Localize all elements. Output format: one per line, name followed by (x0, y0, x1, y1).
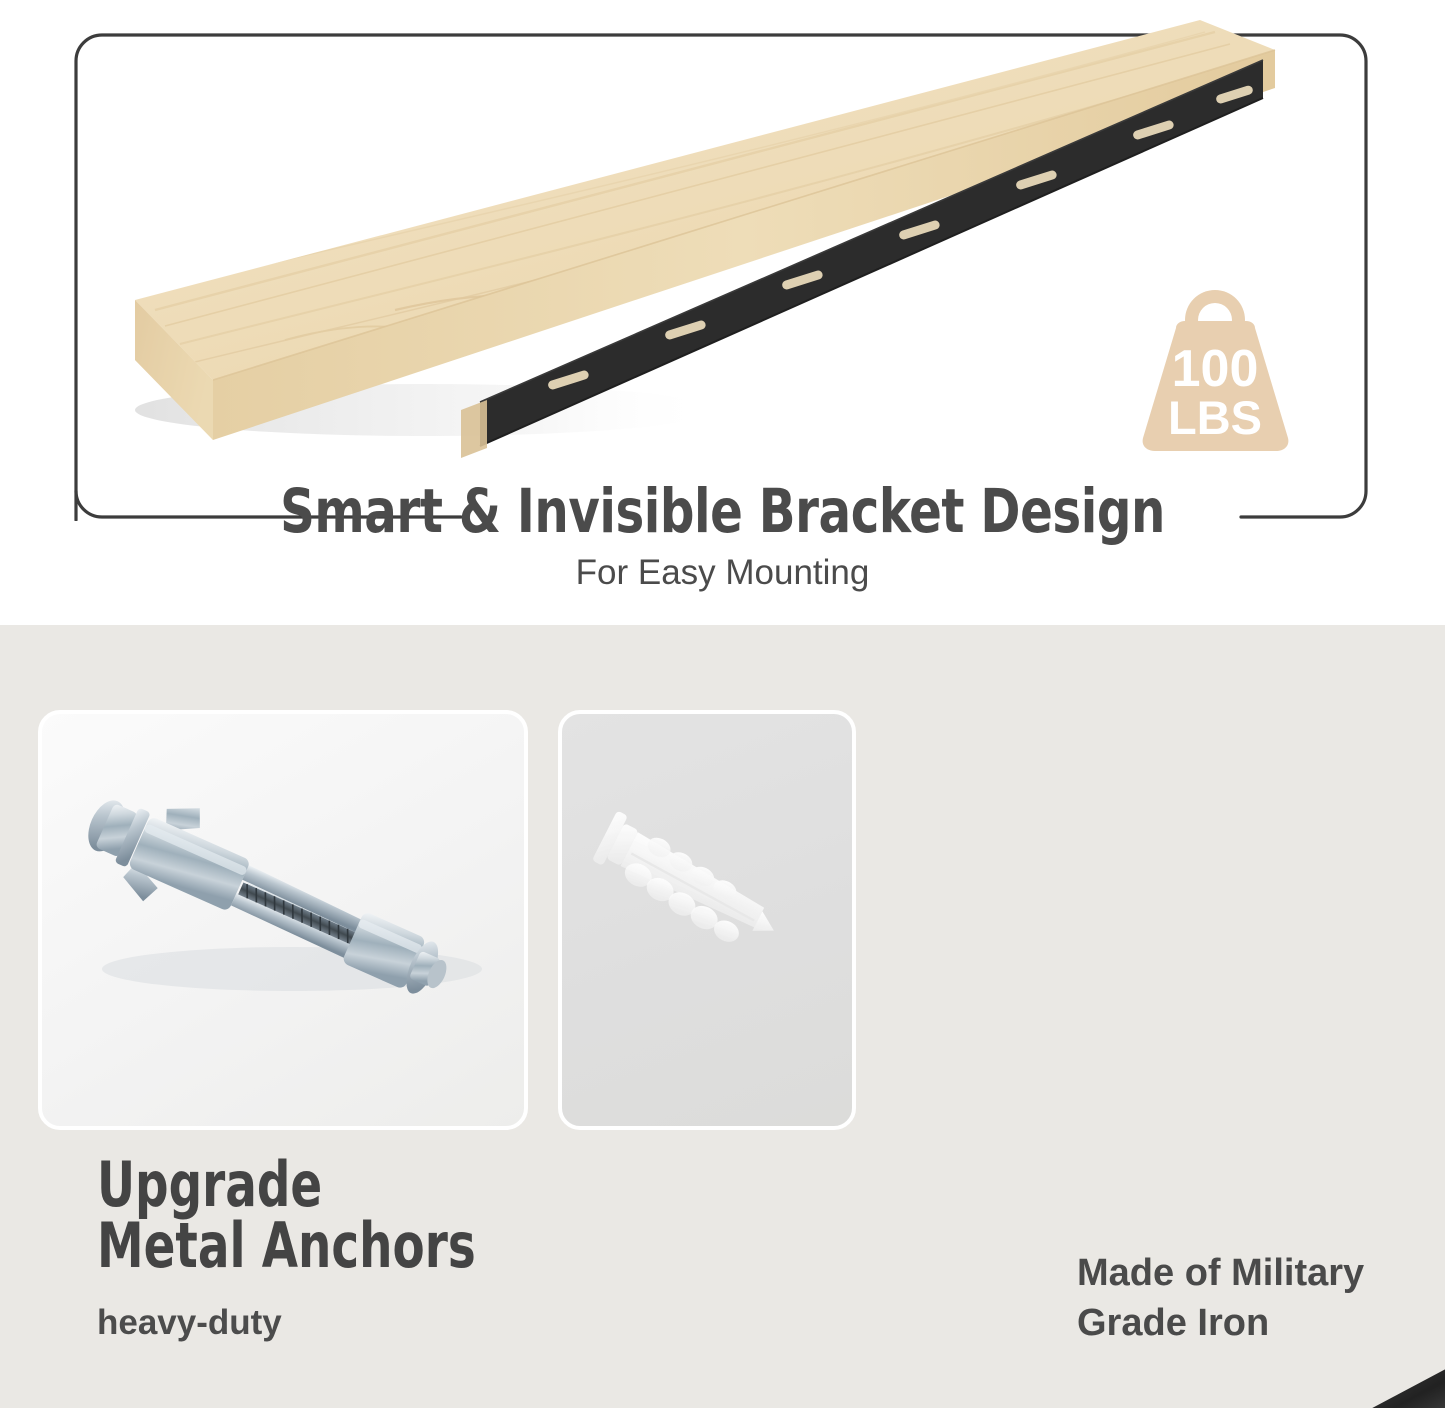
feature-metal-anchors-line1: Upgrade (97, 1155, 476, 1216)
plastic-anchor-panel (558, 710, 856, 1130)
page-title: Smart & Invisible Bracket Design (87, 481, 1359, 542)
page-subtitle: For Easy Mounting (0, 555, 1445, 590)
iron-pipe-image (840, 1340, 1445, 1408)
metal-anchor-panel (38, 710, 528, 1130)
badge-unit-text: LBS (1168, 391, 1262, 444)
feature-military-iron-line2: Grade Iron (1077, 1298, 1364, 1348)
weight-capacity-badge: 100 LBS (1128, 286, 1303, 454)
badge-value-text: 100 (1172, 340, 1259, 398)
feature-metal-anchors-note: heavy-duty (97, 1305, 548, 1340)
feature-military-iron: Made of Military Grade Iron (1077, 1248, 1364, 1348)
feature-metal-anchors-line2: Metal Anchors (97, 1216, 476, 1277)
feature-military-iron-line1: Made of Military (1077, 1248, 1364, 1298)
feature-metal-anchors: Upgrade Metal Anchors heavy-duty (97, 1155, 548, 1340)
hero-section: 100 LBS Smart & Invisible Bracket Design… (0, 0, 1445, 625)
